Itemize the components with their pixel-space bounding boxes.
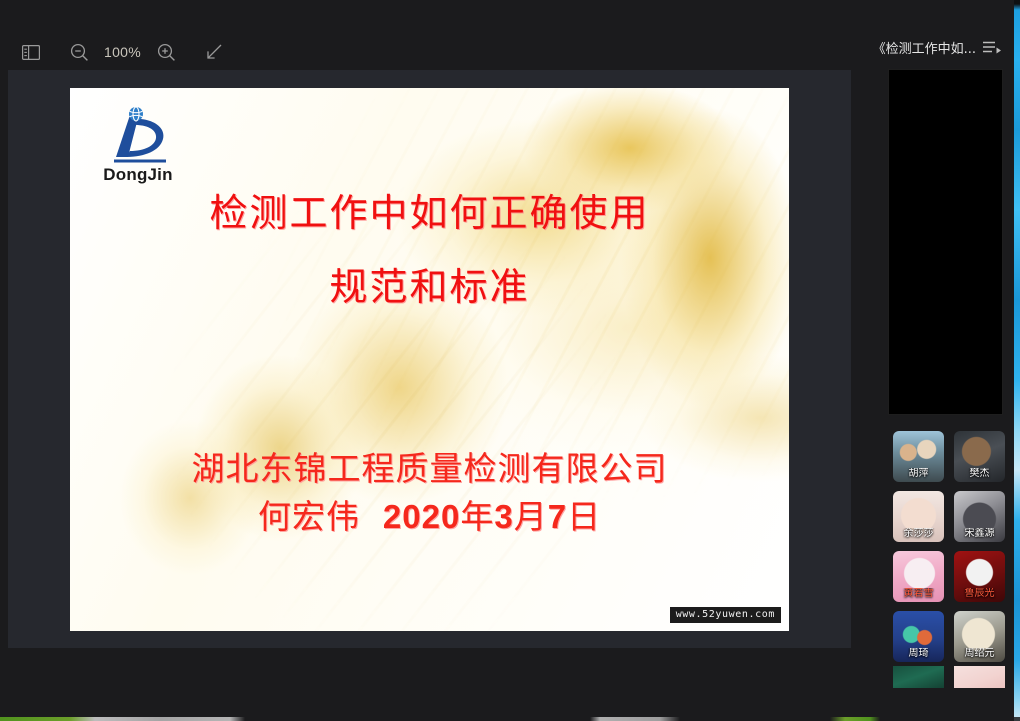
participant-cell[interactable]: 樊杰 [949,426,1010,486]
slide-footer-author: 何宏伟 [258,497,360,536]
fit-to-window-button[interactable] [195,33,233,71]
participant-name: 胡萍 [893,468,944,480]
slide-footer-author-date: 何宏伟 2020年3月7日 [70,492,789,542]
zoom-in-icon [157,43,176,62]
participant-name: 周绍元 [954,648,1005,660]
arrow-down-left-icon [205,43,223,61]
slide-footer-year-unit: 年 [460,497,494,536]
participant-name: 宋鑫源 [954,528,1005,540]
participant-name: 樊杰 [954,468,1005,480]
panel-layout-icon [22,45,40,60]
playlist-icon[interactable] [982,39,1002,55]
viewer-toolbar: 100% [0,30,860,74]
participant-cell[interactable]: 周绍元 [949,606,1010,666]
slide-title-line-2: 规范和标准 [70,250,789,324]
participant-cell[interactable]: 余莎莎 [888,486,949,546]
slide-title-line-1: 检测工作中如何正确使用 [70,176,789,250]
slide-footer-company: 湖北东锦工程质量检测有限公司 [70,446,789,492]
zoom-level-label: 100% [98,44,147,60]
slide-footer-day-unit: 日 [567,497,601,536]
slide-canvas[interactable]: DongJin 检测工作中如何正确使用 规范和标准 湖北东锦工程质量检测有限公司… [70,88,789,631]
participant-avatar: 宋鑫源 [954,491,1005,542]
slide-footer-month-unit: 月 [514,497,548,536]
slide-stage[interactable]: DongJin 检测工作中如何正确使用 规范和标准 湖北东锦工程质量检测有限公司… [8,70,851,648]
video-preview-panel[interactable] [888,69,1003,415]
participant-avatar: 余莎莎 [893,491,944,542]
zoom-out-icon [70,43,89,62]
sidebar-panel-toggle-button[interactable] [12,33,50,71]
participant-name: 鲁辰光 [954,588,1005,600]
participant-cell[interactable]: 胡萍 [888,426,949,486]
document-title-bar: 《检测工作中如... [862,34,1014,60]
right-edge-accent-strip [1014,0,1020,721]
participant-avatar: 鲁辰光 [954,551,1005,602]
participant-avatar: 黄若雪 [893,551,944,602]
participant-avatar: 胡萍 [893,431,944,482]
participant-cell[interactable]: 鲁辰光 [949,546,1010,606]
company-logo: DongJin [90,105,186,185]
participant-cell[interactable] [949,666,1010,688]
participant-name: 余莎莎 [893,528,944,540]
slide-title: 检测工作中如何正确使用 规范和标准 [70,176,789,324]
slide-footer-day: 7 [548,498,567,535]
right-side-panel: 《检测工作中如... 胡萍 樊杰 余莎莎 [862,0,1014,721]
participant-avatar: 周琦 [893,611,944,662]
participant-cell[interactable]: 黄若雪 [888,546,949,606]
participant-cell[interactable] [888,666,949,688]
slide-footer: 湖北东锦工程质量检测有限公司 何宏伟 2020年3月7日 [70,446,789,542]
zoom-in-button[interactable] [147,33,185,71]
bottom-window-sliver [0,717,1020,721]
app-window: 100% [0,0,1020,721]
participant-avatar: 樊杰 [954,431,1005,482]
document-title: 《检测工作中如... [873,38,976,57]
slide-watermark: www.52yuwen.com [670,607,781,623]
participant-avatar: 周绍元 [954,611,1005,662]
participant-name: 黄若雪 [893,588,944,600]
participant-avatar [954,666,1005,688]
dongjin-logo-icon [100,105,176,167]
slide-footer-month: 3 [494,498,513,535]
participant-thumbnail-grid: 胡萍 樊杰 余莎莎 宋鑫源 黄若雪 [888,426,1010,688]
zoom-out-button[interactable] [60,33,98,71]
participant-avatar [893,666,944,688]
participant-cell[interactable]: 宋鑫源 [949,486,1010,546]
participant-name: 周琦 [893,648,944,660]
slide-footer-year: 2020 [383,498,460,535]
participant-cell[interactable]: 周琦 [888,606,949,666]
